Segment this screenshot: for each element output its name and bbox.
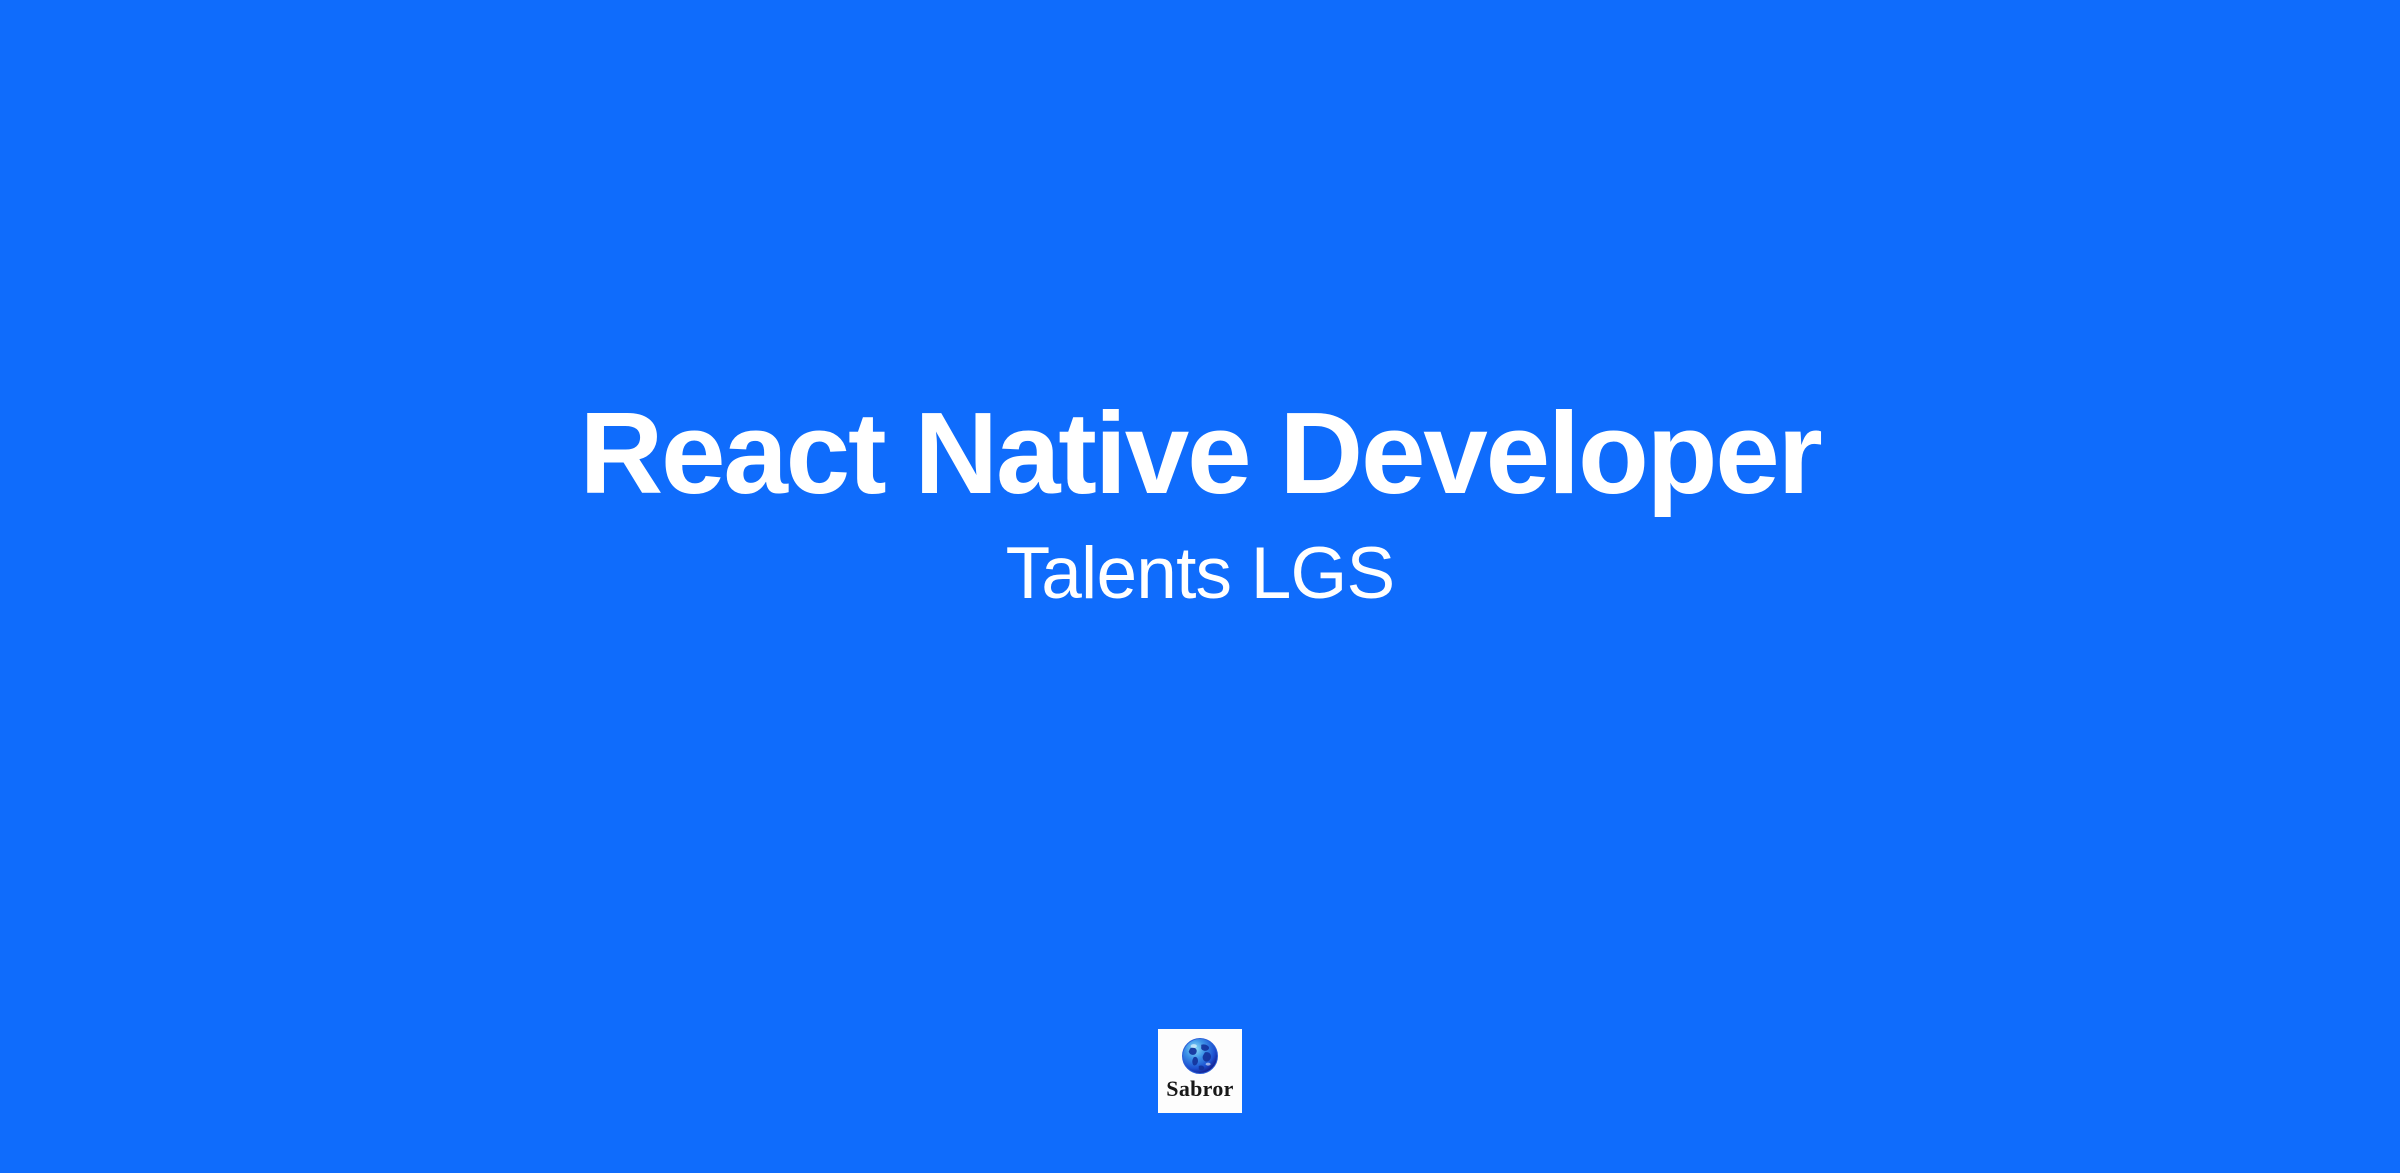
hero-section: React Native Developer Talents LGS: [0, 0, 2400, 1173]
globe-icon: [1180, 1036, 1220, 1076]
brand-logo[interactable]: Sabror: [1158, 1029, 1242, 1113]
page-title: React Native Developer: [579, 395, 1820, 511]
company-subtitle: Talents LGS: [1006, 537, 1395, 610]
brand-logo-label: Sabror: [1166, 1077, 1233, 1100]
title-slide: React Native Developer Talents LGS: [0, 0, 2400, 1173]
